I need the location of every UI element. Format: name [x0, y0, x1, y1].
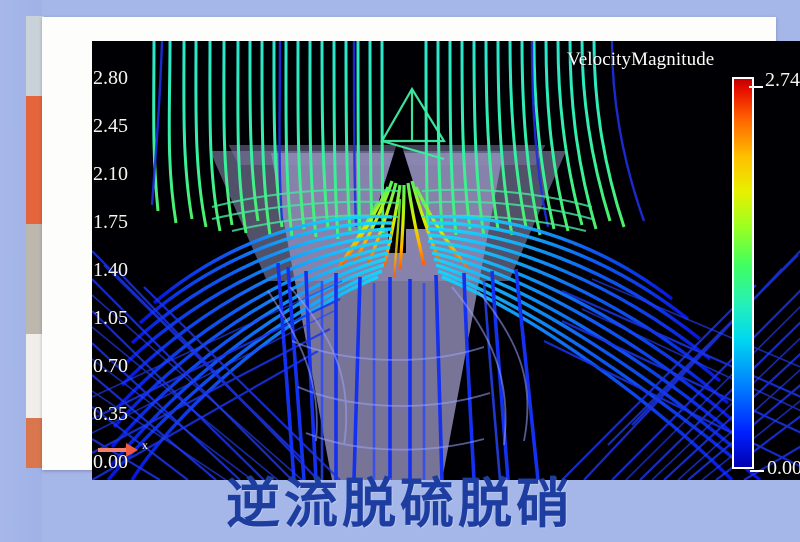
colorbar-tick: 0.00: [93, 451, 128, 474]
x-axis-label: x: [142, 439, 148, 451]
image-frame: x VelocityMagnitude 2.74 0.00 2.80 2.45 …: [42, 17, 776, 470]
colorbar-max-marker: [749, 86, 763, 88]
colorbar-tick: 1.05: [93, 307, 128, 330]
colorbar-max-value: 2.74: [765, 69, 800, 92]
colorbar-tick: 2.10: [93, 163, 128, 186]
streamlines: [92, 41, 800, 480]
colorbar-tick: 0.70: [93, 355, 128, 378]
slide-background: x VelocityMagnitude 2.74 0.00 2.80 2.45 …: [0, 0, 800, 542]
geometry-wireframe: [382, 89, 444, 159]
colorbar-tick: 1.75: [93, 211, 128, 234]
colorbar-tick: 0.35: [93, 403, 128, 426]
colorbar-tick: 2.45: [93, 115, 128, 138]
cfd-viewport[interactable]: x VelocityMagnitude 2.74 0.00 2.80 2.45 …: [92, 41, 800, 480]
colorbar: [732, 77, 754, 469]
caption: 逆流脱硫脱硝: [0, 472, 800, 536]
colorbar-tick: 1.40: [93, 259, 128, 282]
colorbar-tick: 2.80: [93, 67, 128, 90]
legend-title: VelocityMagnitude: [567, 49, 714, 71]
